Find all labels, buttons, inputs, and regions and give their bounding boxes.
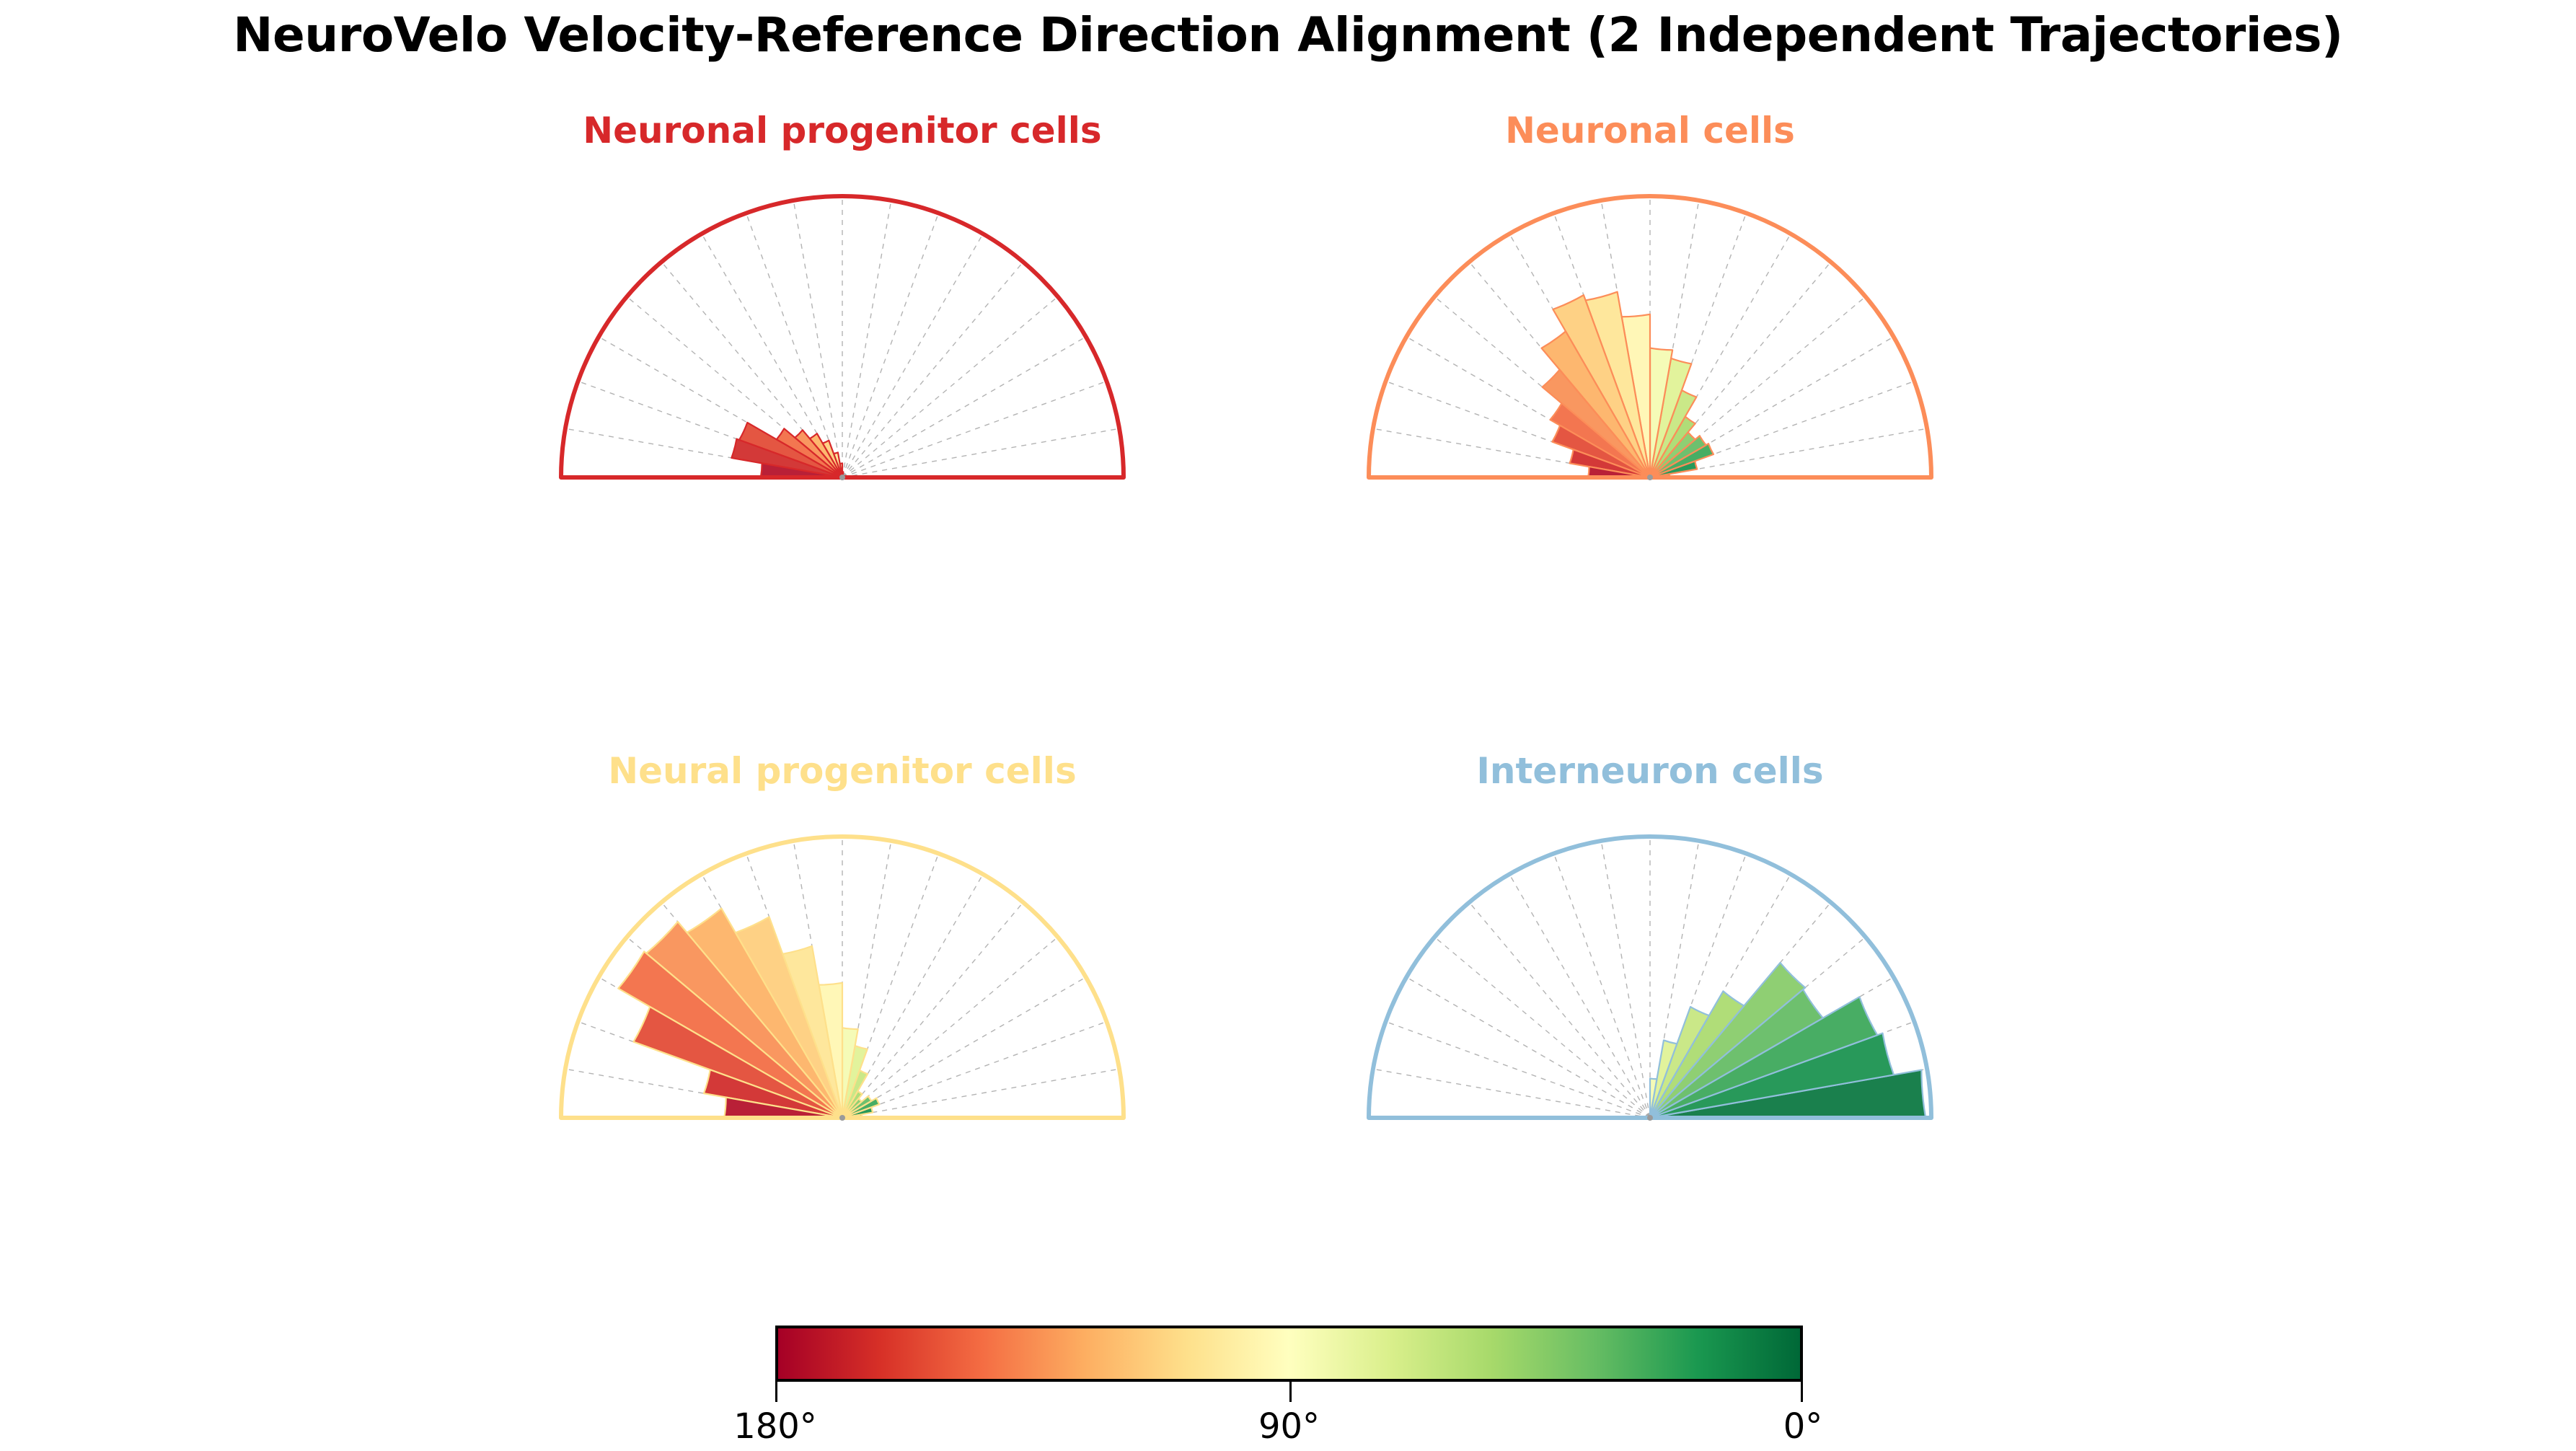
panel-neuronal-cells: Neuronal cells: [1066, 110, 2234, 687]
rose-plot-svg: [544, 819, 1141, 1135]
rose-plot-svg: [544, 179, 1141, 495]
rose-bars: [1542, 292, 1713, 477]
rose-chart-interneuron-cells: [1066, 819, 2234, 1324]
colorbar-gradient-strip: [775, 1326, 1803, 1382]
polar-origin-marker: [1647, 1115, 1653, 1121]
panel-title: Interneuron cells: [1066, 750, 2234, 792]
rose-bars: [731, 423, 843, 477]
rose-bars: [618, 909, 879, 1118]
panel-title: Neuronal cells: [1066, 110, 2234, 151]
colorbar-tick: [775, 1382, 777, 1402]
radial-gridlines: [565, 196, 1119, 477]
rose-plot-svg: [1351, 819, 1949, 1135]
polar-origin-marker: [839, 1115, 845, 1121]
colorbar-tick-label: 90°: [1258, 1406, 1320, 1447]
polar-origin-marker: [1647, 475, 1653, 480]
colorbar: 180°90°0°: [775, 1326, 1803, 1441]
rose-chart-neuronal-cells: [1066, 179, 2234, 684]
colorbar-tick-label: 0°: [1783, 1406, 1823, 1447]
polar-origin-marker: [839, 475, 845, 480]
rose-plot-svg: [1351, 179, 1949, 495]
figure-title: NeuroVelo Velocity-Reference Direction A…: [0, 7, 2576, 63]
colorbar-tick: [1289, 1382, 1292, 1402]
colorbar-tick-label: 180°: [733, 1406, 817, 1447]
rose-bars: [1650, 963, 1926, 1118]
panel-interneuron-cells: Interneuron cells: [1066, 750, 2234, 1327]
colorbar-tick: [1801, 1382, 1803, 1402]
